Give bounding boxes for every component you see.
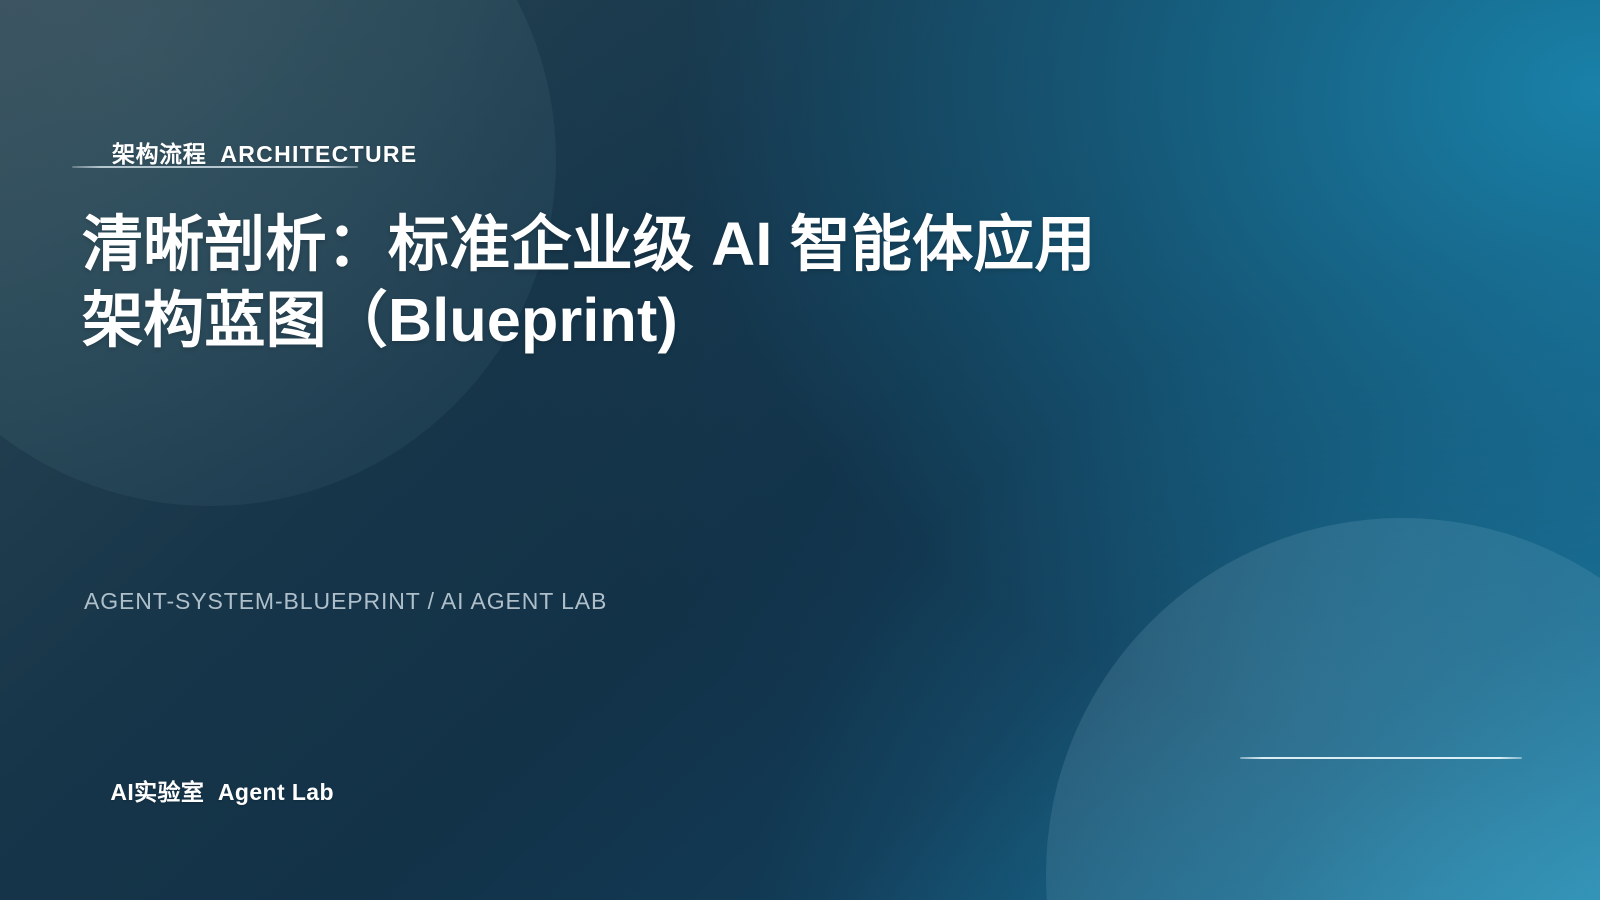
- subtitle-kicker: AGENT-SYSTEM-BLUEPRINT / AI AGENT LAB: [84, 588, 607, 615]
- page-title: 清晰剖析：标准企业级 AI 智能体应用 架构蓝图（Blueprint): [82, 206, 1262, 358]
- accent-divider-bottom-right: [1240, 757, 1522, 759]
- decorative-circle-bottom-right: [1046, 518, 1600, 900]
- eyebrow-label-zh: 架构流程: [112, 141, 206, 167]
- footer-organization: AI实验室 Agent Lab: [84, 746, 334, 834]
- title-slide: 架构流程 ARCHITECTURE 清晰剖析：标准企业级 AI 智能体应用 架构…: [0, 0, 1600, 900]
- footer-spacer: [204, 779, 218, 805]
- footer-organization-zh: AI实验室: [110, 779, 204, 805]
- page-title-line-2: 架构蓝图（Blueprint): [82, 282, 1262, 358]
- eyebrow-label: 架构流程 ARCHITECTURE: [84, 108, 417, 196]
- eyebrow-label-en: ARCHITECTURE: [220, 141, 417, 167]
- footer-organization-en: Agent Lab: [218, 779, 334, 805]
- page-title-line-1: 清晰剖析：标准企业级 AI 智能体应用: [82, 206, 1262, 282]
- eyebrow-spacer: [206, 141, 220, 167]
- eyebrow-divider: [72, 166, 358, 168]
